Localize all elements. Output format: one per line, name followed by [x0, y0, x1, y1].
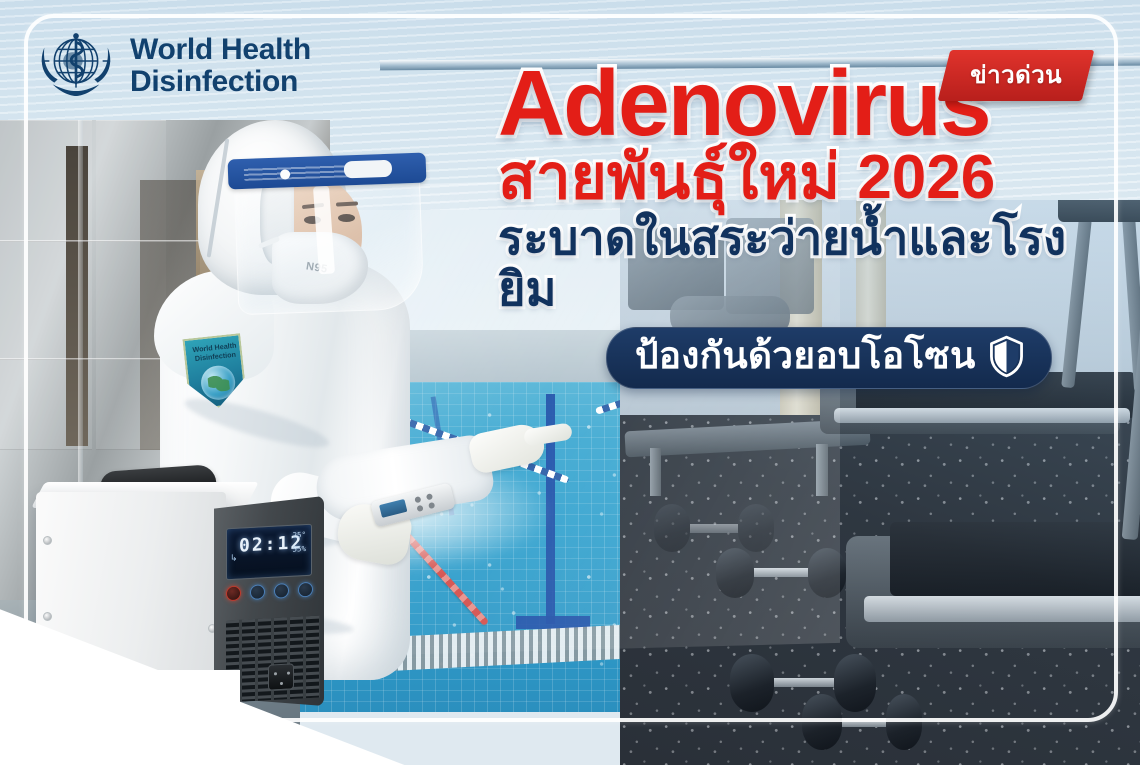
cta-pill-label: ป้องกันด้วยอบโอโซน [635, 336, 976, 377]
remote-screen [379, 499, 407, 518]
ozone-plus-button[interactable] [250, 584, 265, 600]
face-shield-band-print [244, 163, 354, 181]
headline-line-2: สายพันธุ์ใหม่ 2026 [498, 147, 1110, 209]
breaking-news-badge-label: ข่าวด่วน [970, 55, 1062, 94]
face-shield-clip [344, 160, 393, 179]
remote-button [416, 505, 423, 512]
cta-pill: ป้องกันด้วยอบโอโซน [606, 327, 1052, 389]
ozone-mode-arrow-icon: ↳ [230, 553, 238, 564]
ozone-humidity-value: 55% [292, 544, 306, 554]
ozone-screw [43, 612, 52, 621]
ozone-lcd-display: ↳ 02:12 25° 55% [226, 524, 312, 581]
brand-logo: World Health Disinfection [34, 26, 311, 106]
lobby-dark-column [66, 146, 88, 446]
shield-icon [988, 335, 1025, 378]
headline-block: ข่าวด่วน Adenovirus สายพันธุ์ใหม่ 2026 ร… [498, 58, 1110, 389]
poster-canvas: N95 World Health Disinfection [0, 0, 1140, 765]
who-emblem-icon [34, 26, 118, 106]
ozone-power-button[interactable] [226, 586, 241, 602]
white-bottom-block [0, 670, 240, 765]
ozone-minus-button[interactable] [274, 583, 289, 599]
remote-button [414, 496, 421, 503]
breaking-news-badge: ข่าวด่วน [938, 50, 1095, 101]
remote-button [426, 493, 433, 500]
brand-name: World Health Disinfection [130, 34, 311, 99]
brand-name-line1: World Health [130, 34, 311, 66]
brand-name-line2: Disinfection [130, 66, 311, 98]
ozone-power-socket [268, 663, 294, 690]
headline-line-3: ระบาดในสระว่ายน้ำและโรงยิม [498, 213, 1110, 315]
remote-button [428, 502, 435, 509]
ozone-button-row[interactable] [224, 578, 316, 607]
ozone-temperature-value: 25° [292, 530, 306, 540]
ozone-mode-button[interactable] [298, 582, 313, 598]
ozone-screw [43, 536, 52, 545]
